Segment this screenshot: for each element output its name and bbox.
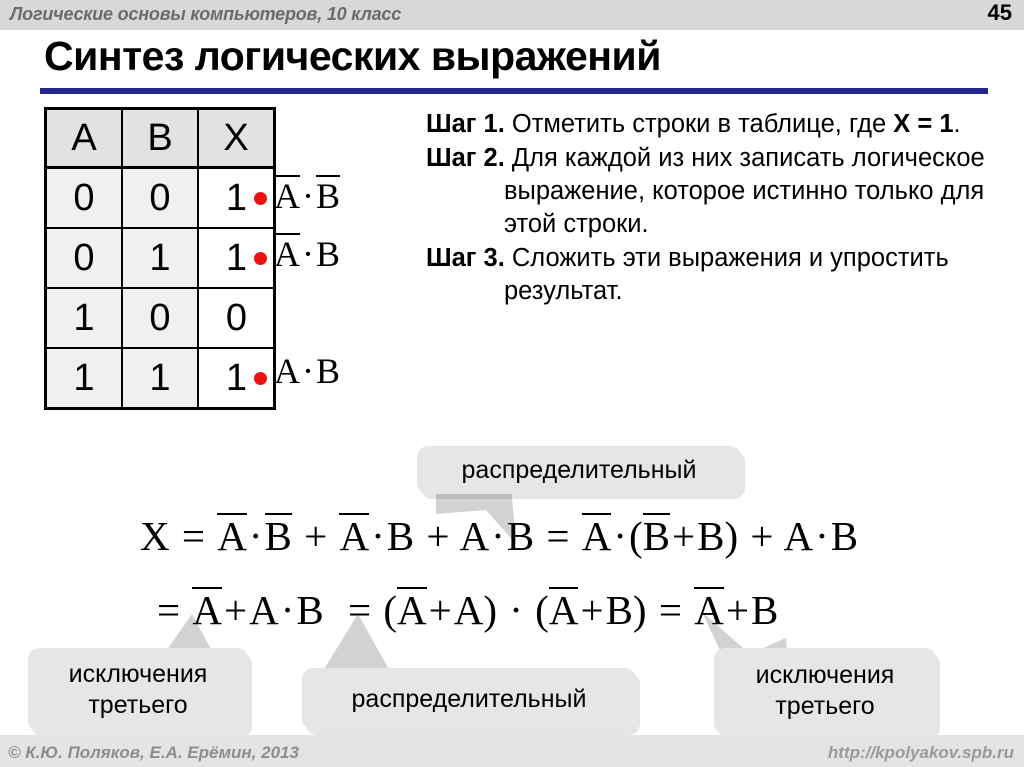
a-negated: A bbox=[274, 175, 300, 214]
plus-operator: + bbox=[748, 513, 775, 559]
and-operator: · bbox=[611, 513, 629, 559]
and-operator: · bbox=[507, 587, 525, 633]
step-text: Сложить эти выражения и упростить резуль… bbox=[504, 244, 949, 305]
x-value: 1 bbox=[226, 239, 247, 277]
breadcrumb: Логические основы компьютеров, 10 класс bbox=[10, 4, 401, 25]
column-header-x: X bbox=[198, 109, 275, 168]
a-plain: A bbox=[454, 587, 484, 633]
and-operator: · bbox=[300, 234, 316, 274]
and-operator: · bbox=[300, 351, 316, 391]
cell-x: 0 bbox=[198, 288, 275, 348]
b-plain: B bbox=[296, 587, 323, 633]
cell-a: 1 bbox=[46, 348, 123, 409]
x-value: 0 bbox=[226, 299, 247, 337]
and-operator: · bbox=[813, 513, 831, 559]
cell-x: 1 bbox=[198, 348, 275, 409]
callout-excluded-middle-right: исключения третьего bbox=[714, 648, 936, 734]
footer-url[interactable]: http://kpolyakov.spb.ru bbox=[828, 743, 1014, 763]
plus-operator: + bbox=[578, 587, 605, 633]
step-label: Шаг 3. bbox=[426, 244, 505, 272]
equals-sign: = bbox=[544, 513, 571, 559]
callout-text: исключения третьего bbox=[714, 660, 936, 722]
table-header-row: A B X bbox=[46, 109, 275, 168]
a-plain: A bbox=[459, 513, 489, 559]
plus-operator: + bbox=[724, 587, 751, 633]
x-value: 1 bbox=[226, 179, 247, 217]
row-expression-4: A·B bbox=[274, 350, 340, 392]
cell-x: 1 bbox=[198, 168, 275, 229]
cell-x: 1 bbox=[198, 228, 275, 288]
paren-open: ( bbox=[383, 587, 397, 633]
a-plain: A bbox=[249, 587, 279, 633]
truth-table: A B X 0 0 1 0 1 1 1 bbox=[44, 107, 276, 410]
and-operator: · bbox=[489, 513, 507, 559]
b-plain: B bbox=[507, 513, 534, 559]
step-label: Шаг 2. bbox=[426, 144, 505, 172]
title-underline-rule bbox=[40, 88, 988, 94]
step-text: Отметить строки в таблице, где bbox=[505, 110, 893, 138]
a-negated: A bbox=[192, 587, 222, 631]
callout-text: исключения третьего bbox=[28, 659, 248, 721]
b-plain: B bbox=[316, 234, 340, 274]
a-negated: A bbox=[339, 513, 369, 557]
row-expression-1: A·B bbox=[274, 175, 340, 217]
plus-operator: + bbox=[222, 587, 249, 633]
and-operator: · bbox=[279, 587, 297, 633]
cell-b: 0 bbox=[122, 288, 198, 348]
step-item-2: Шаг 2. Для каждой из них записать логиче… bbox=[426, 142, 1016, 241]
equals-sign: = bbox=[657, 587, 684, 633]
step-emphasis: X = 1 bbox=[893, 110, 953, 138]
a-negated: A bbox=[549, 587, 579, 631]
equals-sign: = bbox=[155, 587, 182, 633]
plus-operator: + bbox=[302, 513, 329, 559]
equals-sign: = bbox=[334, 587, 373, 633]
and-operator: · bbox=[300, 176, 316, 216]
step-text-tail: . bbox=[954, 110, 961, 138]
plus-operator: + bbox=[424, 513, 451, 559]
a-negated: A bbox=[397, 587, 427, 631]
cell-b: 1 bbox=[122, 228, 198, 288]
footer-copyright: © К.Ю. Поляков, Е.А. Ерёмин, 2013 bbox=[8, 743, 299, 763]
page-number: 45 bbox=[988, 0, 1012, 26]
paren-close: ) bbox=[725, 513, 739, 559]
step-item-3: Шаг 3. Сложить эти выражения и упростить… bbox=[426, 242, 1016, 308]
table-row: 1 0 0 bbox=[46, 288, 275, 348]
x-value: 1 bbox=[226, 359, 247, 397]
callout-distributive-top: распределительный bbox=[417, 446, 741, 494]
row-marker-dot bbox=[254, 252, 267, 265]
table-row: 1 1 1 bbox=[46, 348, 275, 409]
b-plain: B bbox=[831, 513, 858, 559]
callout-distributive-bottom: распределительный bbox=[302, 668, 636, 730]
b-negated: B bbox=[316, 175, 340, 214]
step-label: Шаг 1. bbox=[426, 110, 505, 138]
b-negated: B bbox=[643, 513, 670, 557]
a-plain: A bbox=[784, 513, 814, 559]
cell-b: 0 bbox=[122, 168, 198, 229]
b-negated: B bbox=[265, 513, 292, 557]
equals-sign: = bbox=[180, 513, 207, 559]
b-plain: B bbox=[387, 513, 414, 559]
cell-a: 0 bbox=[46, 168, 123, 229]
formula-line-1: X = A·B + A·B + A·B = A·(B+B) + A·B bbox=[140, 512, 858, 560]
b-plain: B bbox=[316, 351, 340, 391]
step-item-1: Шаг 1. Отметить строки в таблице, где X … bbox=[426, 108, 1016, 141]
table-row: 0 1 1 bbox=[46, 228, 275, 288]
formula-x: X bbox=[140, 513, 170, 559]
a-plain: A bbox=[274, 351, 300, 391]
column-header-a: A bbox=[46, 109, 123, 168]
cell-a: 0 bbox=[46, 228, 123, 288]
callout-text: распределительный bbox=[462, 455, 697, 486]
and-operator: · bbox=[247, 513, 265, 559]
cell-b: 1 bbox=[122, 348, 198, 409]
callout-excluded-middle-left: исключения третьего bbox=[28, 648, 248, 732]
b-plain: B bbox=[697, 513, 724, 559]
steps-list: Шаг 1. Отметить строки в таблице, где X … bbox=[426, 108, 1016, 308]
and-operator: · bbox=[369, 513, 387, 559]
page-title: Синтез логических выражений bbox=[44, 33, 661, 80]
column-header-b: B bbox=[122, 109, 198, 168]
row-marker-dot bbox=[254, 372, 267, 385]
row-marker-dot bbox=[254, 192, 267, 205]
table-row: 0 0 1 bbox=[46, 168, 275, 229]
formula-line-2: = A+A·B = (A+A) · (A+B) = A+B bbox=[155, 586, 778, 634]
cell-a: 1 bbox=[46, 288, 123, 348]
paren-open: ( bbox=[629, 513, 643, 559]
a-negated: A bbox=[582, 513, 612, 557]
a-negated: A bbox=[694, 587, 724, 631]
a-negated: A bbox=[217, 513, 247, 557]
callout-text: распределительный bbox=[352, 684, 587, 715]
b-plain: B bbox=[751, 587, 778, 633]
paren-close: ) bbox=[633, 587, 647, 633]
plus-operator: + bbox=[670, 513, 697, 559]
row-expression-2: A·B bbox=[274, 233, 340, 275]
a-negated: A bbox=[274, 233, 300, 272]
plus-operator: + bbox=[427, 587, 454, 633]
b-plain: B bbox=[606, 587, 633, 633]
paren-close: ) bbox=[483, 587, 497, 633]
paren-open: ( bbox=[535, 587, 549, 633]
slide: Логические основы компьютеров, 10 класс … bbox=[0, 0, 1024, 767]
step-text: Для каждой из них записать логическое вы… bbox=[504, 144, 985, 238]
